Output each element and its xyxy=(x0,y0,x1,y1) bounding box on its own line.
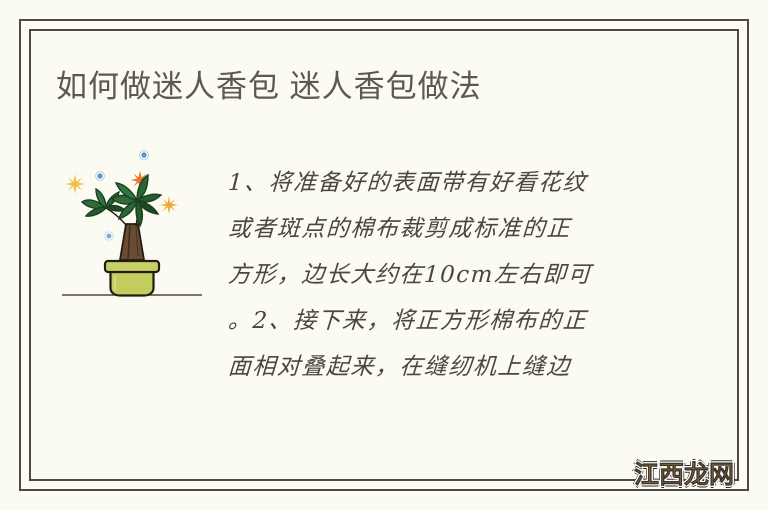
article-card: 如何做迷人香包 迷人香包做法 xyxy=(0,0,768,510)
potted-plant-illustration xyxy=(58,142,206,307)
sparkle-dot-blue-top-icon xyxy=(140,151,149,160)
body-line: 1、将准备好的表面带有好看花纹 xyxy=(227,160,689,206)
article-body: 1、将准备好的表面带有好看花纹 或者斑点的棉布裁剪成标准的正 方形，边长大约在1… xyxy=(228,160,688,390)
body-line: 面相对叠起来，在缝纫机上缝边 xyxy=(227,344,689,390)
pot-rim xyxy=(105,261,159,272)
site-watermark: 江西龙网 xyxy=(634,461,734,489)
sparkle-dot-blue-mid-icon xyxy=(96,172,105,181)
sparkle-star-yellow-icon xyxy=(65,174,85,194)
page-title: 如何做迷人香包 迷人香包做法 xyxy=(56,66,696,108)
body-line: 。2、接下来，将正方形棉布的正 xyxy=(227,298,689,344)
sparkle-star-amber-icon xyxy=(160,196,178,214)
sparkle-dot-blue-low-icon xyxy=(105,232,113,240)
body-line: 或者斑点的棉布裁剪成标准的正 xyxy=(227,206,689,252)
body-line: 方形，边长大约在10cm左右即可 xyxy=(227,252,689,298)
plant-trunk xyxy=(120,224,144,260)
